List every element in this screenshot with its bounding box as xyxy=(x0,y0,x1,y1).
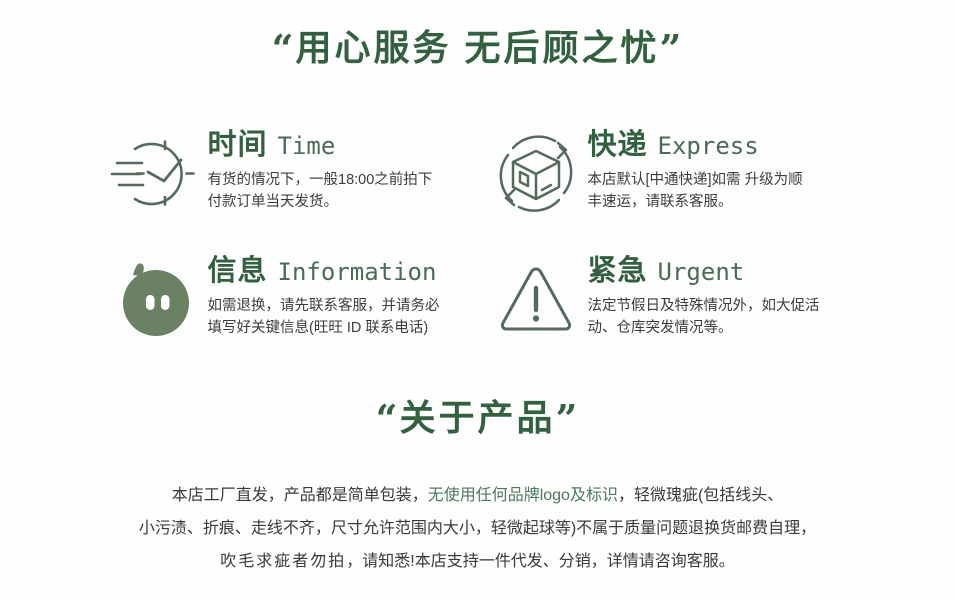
product-note-line-1: 本店工厂直发，产品都是简单包装，无使用任何品牌logo及标识，轻微瑰疵(包括线头… xyxy=(0,480,955,513)
desc-line: 如需退换，请先联系客服，并请务必 xyxy=(208,295,440,317)
service-desc-information: 如需退换，请先联系客服，并请务必 填写好关键信息(旺旺 ID 联系电话) xyxy=(208,295,440,340)
service-text-express: 快递Express 本店默认[中通快递]如需 升级为顺 丰速运，请联系客服。 xyxy=(584,126,803,214)
service-text-urgent: 紧急Urgent 法定节假日及特殊情况外，如大促活 动、仓库突发情况等。 xyxy=(584,252,820,340)
service-heading-urgent: 紧急Urgent xyxy=(588,256,820,288)
service-title-en: Time xyxy=(278,132,336,160)
service-text-time: 时间Time 有货的情况下，一般18:00之前拍下 付款订单当天发货。 xyxy=(204,126,433,214)
note-text-c: ，请知悉!本店支持一件代发、分销，详情请咨询客服。 xyxy=(346,553,734,570)
service-title-cn: 时间 xyxy=(208,129,268,161)
close-quote-mark: ” xyxy=(660,26,684,71)
close-quote-mark: ” xyxy=(556,396,580,441)
service-heading-time: 时间Time xyxy=(208,130,433,162)
desc-line: 填写好关键信息(旺旺 ID 联系电话) xyxy=(208,317,440,339)
note-highlight: 无使用任何品牌logo及标识 xyxy=(428,487,618,504)
service-section-title: “用心服务 无后顾之忧” xyxy=(0,0,955,68)
note-text-spaced: 吹毛求疵者勿拍 xyxy=(220,553,346,570)
package-refresh-icon xyxy=(488,126,584,222)
service-text-information: 信息Information 如需退换，请先联系客服，并请务必 填写好关键信息(旺… xyxy=(204,252,440,340)
product-note-line-2: 小污渍、折痕、走线不齐，尺寸允许范围内大小，轻微起球等)不属于质量问题退换货邮费… xyxy=(0,513,955,546)
service-title-cn: 紧急 xyxy=(588,255,648,287)
service-title-en: Express xyxy=(658,132,759,160)
product-title-text: 关于产品 xyxy=(399,397,555,438)
service-heading-express: 快递Express xyxy=(588,130,803,162)
product-section-title: “关于产品” xyxy=(0,400,955,438)
promo-page: “用心服务 无后顾之忧” xyxy=(0,0,955,600)
desc-line: 法定节假日及特殊情况外，如大促活 xyxy=(588,295,820,317)
open-quote-mark: “ xyxy=(272,26,296,71)
warning-triangle-icon xyxy=(488,252,584,348)
desc-line: 有货的情况下，一般18:00之前拍下 xyxy=(208,169,433,191)
service-title-cn: 快递 xyxy=(588,129,648,161)
product-note-line-3: 吹毛求疵者勿拍，请知悉!本店支持一件代发、分销，详情请咨询客服。 xyxy=(0,546,955,579)
open-quote-mark: “ xyxy=(376,396,400,441)
clock-speed-icon xyxy=(108,126,204,222)
service-item-information: 信息Information 如需退换，请先联系客服，并请务必 填写好关键信息(旺… xyxy=(108,244,468,348)
service-desc-urgent: 法定节假日及特殊情况外，如大促活 动、仓库突发情况等。 xyxy=(588,295,820,340)
desc-line: 丰速运，请联系客服。 xyxy=(588,191,803,213)
service-title-text: 用心服务 无后顾之忧 xyxy=(295,27,659,68)
service-desc-time: 有货的情况下，一般18:00之前拍下 付款订单当天发货。 xyxy=(208,169,433,214)
service-item-express: 快递Express 本店默认[中通快递]如需 升级为顺 丰速运，请联系客服。 xyxy=(488,118,848,222)
service-title-en: Information xyxy=(278,258,437,286)
desc-line: 付款订单当天发货。 xyxy=(208,191,433,213)
service-desc-express: 本店默认[中通快递]如需 升级为顺 丰速运，请联系客服。 xyxy=(588,169,803,214)
service-item-urgent: 紧急Urgent 法定节假日及特殊情况外，如大促活 动、仓库突发情况等。 xyxy=(488,244,848,348)
service-grid: 时间Time 有货的情况下，一般18:00之前拍下 付款订单当天发货。 xyxy=(0,118,955,348)
service-heading-information: 信息Information xyxy=(208,256,440,288)
note-text-a: 本店工厂直发，产品都是简单包装， xyxy=(172,487,428,504)
desc-line: 本店默认[中通快递]如需 升级为顺 xyxy=(588,169,803,191)
service-title-en: Urgent xyxy=(658,258,745,286)
note-text-b: ，轻微瑰疵(包括线头、 xyxy=(618,487,783,504)
service-title-cn: 信息 xyxy=(208,255,268,287)
desc-line: 动、仓库突发情况等。 xyxy=(588,317,820,339)
chat-bubble-face-icon xyxy=(108,252,204,348)
product-note: 本店工厂直发，产品都是简单包装，无使用任何品牌logo及标识，轻微瑰疵(包括线头… xyxy=(0,480,955,578)
service-item-time: 时间Time 有货的情况下，一般18:00之前拍下 付款订单当天发货。 xyxy=(108,118,468,222)
